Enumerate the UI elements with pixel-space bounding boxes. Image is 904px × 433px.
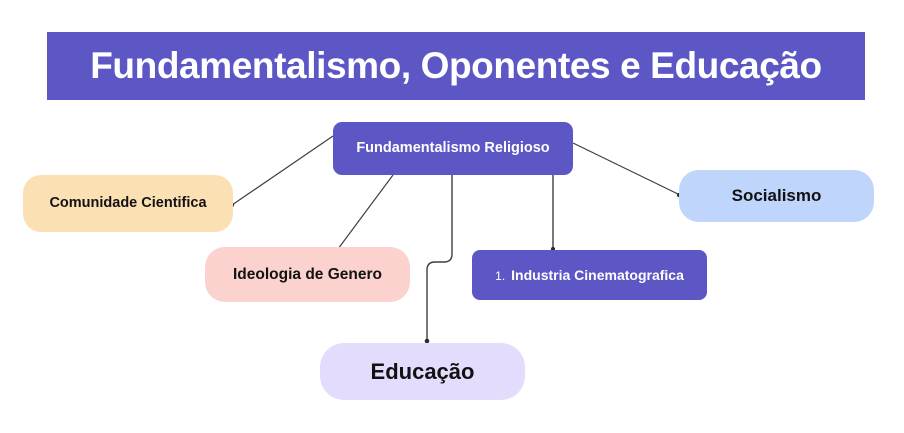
node-comunidade-cientifica[interactable]: Comunidade Cientifica (23, 175, 233, 232)
diagram-canvas: Fundamentalismo, Oponentes e Educação Fu… (0, 0, 904, 433)
node-ideologia-de-genero[interactable]: Ideologia de Genero (205, 247, 410, 302)
node-label-industria-cinematografica: 1.Industria Cinematografica (495, 267, 684, 284)
edge-root-to-socialismo (573, 143, 680, 195)
node-label-comunidade-cientifica: Comunidade Cientifica (49, 195, 206, 212)
node-label-text-industria-cinematografica: Industria Cinematografica (511, 267, 684, 283)
node-label-ideologia-de-genero: Ideologia de Genero (233, 266, 382, 284)
node-label-educacao: Educação (371, 359, 475, 384)
edge-root-to-ideologia (338, 175, 393, 249)
edge-root-to-comunidade (232, 136, 333, 205)
node-label-fundamentalismo-religioso: Fundamentalismo Religioso (356, 140, 549, 157)
node-label-socialismo: Socialismo (732, 186, 822, 206)
node-industria-cinematografica[interactable]: 1.Industria Cinematografica (472, 250, 707, 300)
edge-root-to-educacao (427, 175, 452, 342)
node-fundamentalismo-religioso[interactable]: Fundamentalismo Religioso (333, 122, 573, 175)
node-socialismo[interactable]: Socialismo (679, 170, 874, 222)
node-educacao[interactable]: Educação (320, 343, 525, 400)
list-number-prefix: 1. (495, 269, 505, 283)
title-banner: Fundamentalismo, Oponentes e Educação (47, 32, 865, 100)
page-title: Fundamentalismo, Oponentes e Educação (90, 45, 822, 87)
